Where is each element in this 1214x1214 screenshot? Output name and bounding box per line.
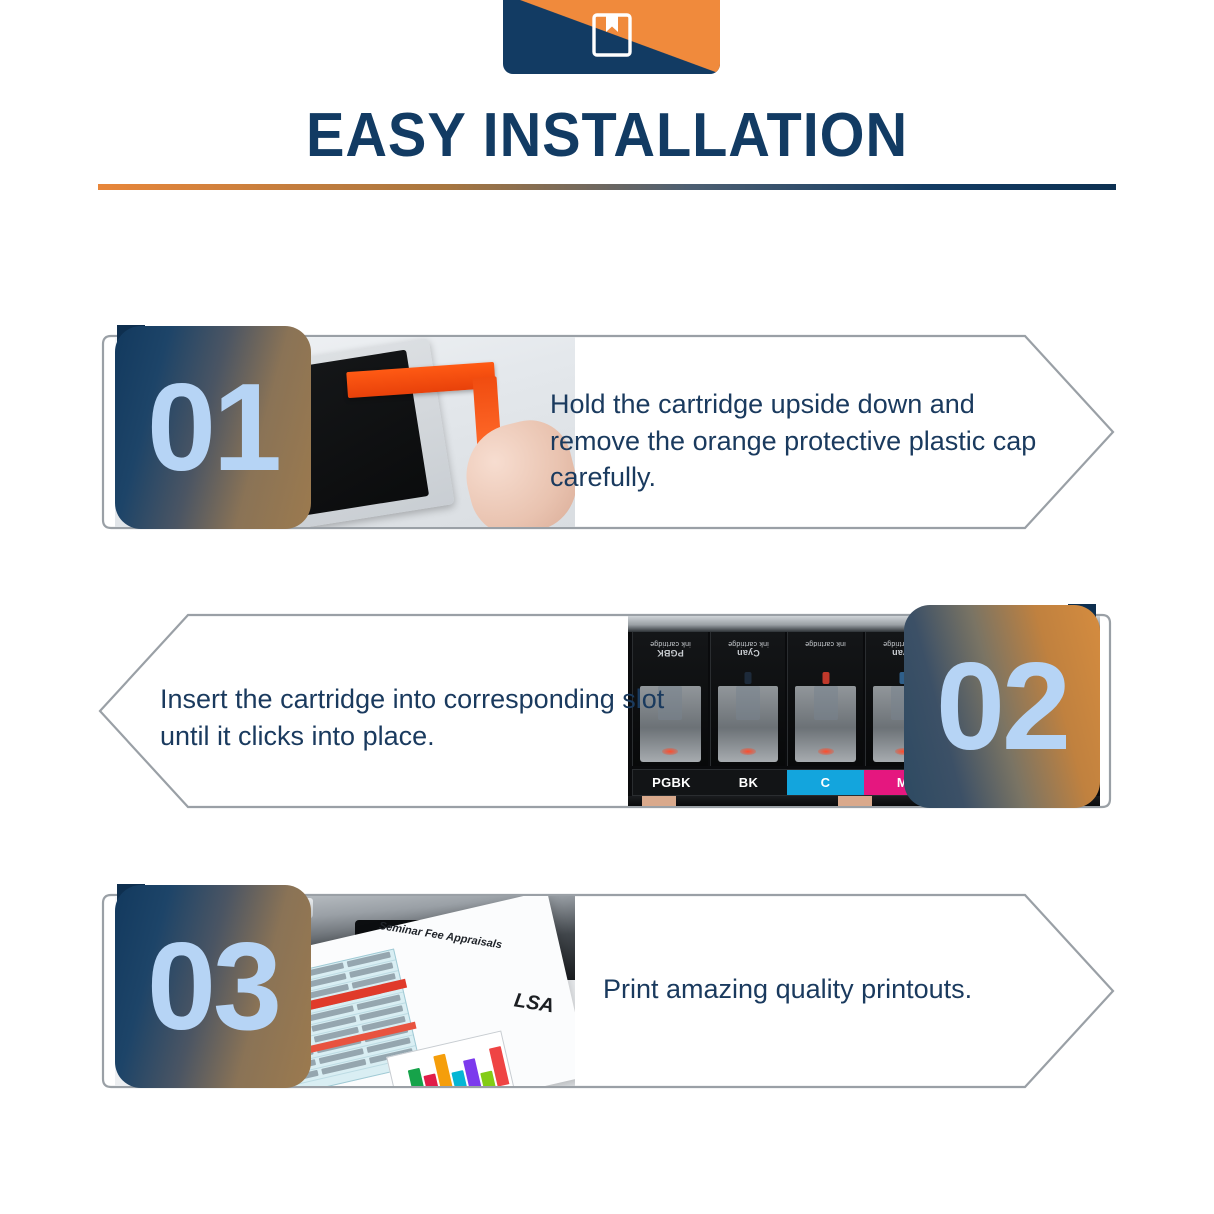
cartridge-slot: ink cartridge: [787, 632, 863, 766]
sheet-logo: LSA: [512, 989, 555, 1018]
step-03-number-badge: 03: [115, 885, 311, 1088]
slot-label-sub: ink cartridge: [650, 640, 691, 647]
step-01-number: 01: [147, 366, 279, 490]
step-02-description: Insert the cartridge into corresponding …: [160, 681, 690, 754]
color-chip-bk: BK: [710, 770, 787, 795]
header-badge: [503, 0, 720, 74]
step-row-02: PGBKink cartridge Cyanink cartridge ink …: [95, 613, 1118, 809]
book-bookmark-icon: [591, 12, 633, 58]
sheet-title: Seminar Fee Appraisals: [378, 920, 503, 951]
slot-label-name: PGBK: [633, 647, 708, 658]
step-01-description: Hold the cartridge upside down and remov…: [550, 386, 1050, 496]
slot-label-sub: ink cartridge: [805, 640, 846, 647]
carriage-foot: [642, 796, 676, 806]
title-divider-rule: [98, 184, 1116, 190]
step-02-number-badge: 02: [904, 605, 1100, 808]
slot-label-sub: ink cartridge: [728, 640, 769, 647]
cartridge-slot: Cyanink cartridge: [710, 632, 786, 766]
step-01-number-badge: 01: [115, 326, 311, 529]
step-03-number: 03: [147, 925, 279, 1049]
color-chip-c: C: [787, 770, 864, 795]
step-row-01: 01 Hold the cartridge upside down and re…: [95, 334, 1118, 530]
color-chip-pgbk: PGBK: [633, 770, 710, 795]
step-02-number: 02: [936, 645, 1068, 769]
carriage-foot: [838, 796, 872, 806]
slot-label-name: Cyan: [711, 647, 786, 658]
page-title: EASY INSTALLATION: [42, 100, 1171, 171]
step-row-03: Seminar Fee Appraisals LSA: [95, 893, 1118, 1089]
step-03-description: Print amazing quality printouts.: [603, 971, 1103, 1008]
